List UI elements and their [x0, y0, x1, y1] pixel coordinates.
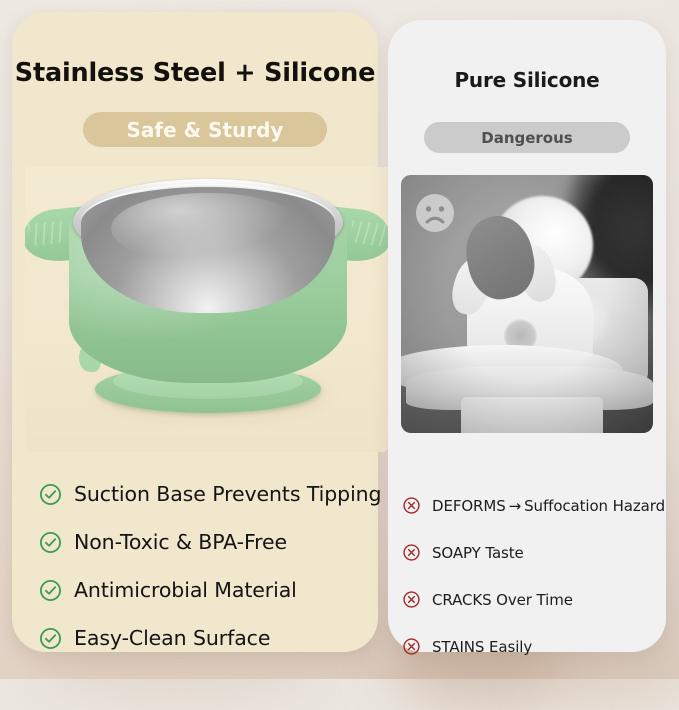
- good-feature-list: Suction Base Prevents Tipping Non-Toxic …: [38, 470, 368, 662]
- feature-label: DEFORMS→Suffocation Hazard: [432, 497, 665, 515]
- good-product-panel: Stainless Steel + Silicone Safe & Sturdy: [12, 12, 378, 652]
- list-item: Antimicrobial Material: [38, 566, 368, 614]
- bad-panel-title: Pure Silicone: [388, 68, 666, 92]
- x-circle-icon: [402, 543, 421, 562]
- list-item: DEFORMS→Suffocation Hazard: [402, 482, 660, 529]
- feature-label: Non-Toxic & BPA-Free: [74, 530, 287, 554]
- safe-sturdy-badge: Safe & Sturdy: [83, 112, 327, 147]
- feature-label: Suction Base Prevents Tipping: [74, 482, 381, 506]
- bad-product-panel: Pure Silicone Dangerous: [388, 20, 666, 652]
- handle-grip-lines: [350, 221, 386, 246]
- feature-label-pre: DEFORMS: [432, 497, 506, 515]
- sad-face-icon: [415, 193, 455, 233]
- check-circle-icon: [38, 482, 63, 507]
- check-circle-icon: [38, 578, 63, 603]
- bowl-steel-rim-highlight: [81, 184, 335, 258]
- arrow-right-icon: →: [506, 497, 524, 515]
- feature-label-post: Suffocation Hazard: [524, 497, 665, 515]
- dangerous-badge: Dangerous: [424, 122, 630, 153]
- list-item: CRACKS Over Time: [402, 576, 660, 623]
- feature-label: CRACKS Over Time: [432, 591, 573, 609]
- bowl-product-photo: [25, 167, 389, 452]
- check-circle-icon: [38, 626, 63, 651]
- list-item: Non-Toxic & BPA-Free: [38, 518, 368, 566]
- list-item: Suction Base Prevents Tipping: [38, 470, 368, 518]
- hazard-lifestyle-photo: [401, 175, 653, 433]
- bad-feature-list: DEFORMS→Suffocation Hazard SOAPY Taste C…: [402, 482, 660, 670]
- x-circle-icon: [402, 637, 421, 656]
- comparison-infographic: Stainless Steel + Silicone Safe & Sturdy: [0, 0, 679, 679]
- feature-label: SOAPY Taste: [432, 544, 524, 562]
- x-circle-icon: [402, 590, 421, 609]
- check-circle-icon: [38, 530, 63, 555]
- list-item: STAINS Easily: [402, 623, 660, 670]
- feature-label: Easy-Clean Surface: [74, 626, 270, 650]
- handle-grip-lines: [28, 221, 64, 246]
- x-circle-icon: [402, 496, 421, 515]
- list-item: SOAPY Taste: [402, 529, 660, 576]
- feature-label: STAINS Easily: [432, 638, 532, 656]
- good-panel-title: Stainless Steel + Silicone: [12, 58, 378, 88]
- feature-label: Antimicrobial Material: [74, 578, 297, 602]
- list-item: Easy-Clean Surface: [38, 614, 368, 662]
